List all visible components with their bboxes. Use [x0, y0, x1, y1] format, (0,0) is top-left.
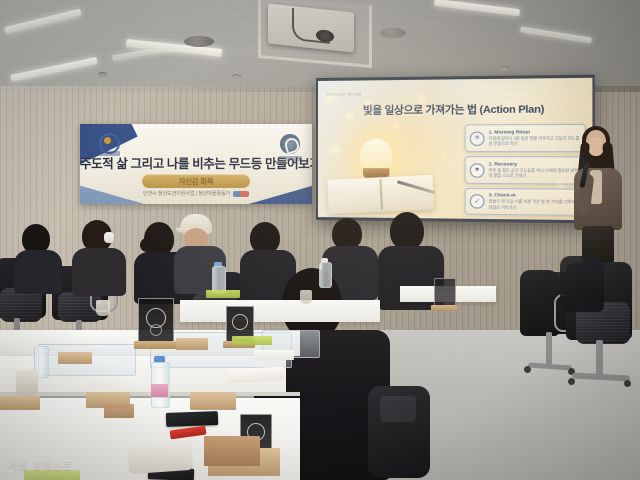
paper-cup	[16, 370, 38, 396]
presenter-speaker	[566, 126, 628, 262]
projection-screen: Seminar Ritual 빛을 일상으로 가져가는 법 (Action Pl…	[316, 75, 595, 224]
conference-table	[180, 300, 380, 322]
wooden-lamp-base	[176, 338, 208, 350]
wooden-lamp-base	[190, 392, 236, 410]
workshop-photo-scene: 주도적 삶 그리고 나를 비추는 무드등 만들어보기 자신감 회복 인천시 청년…	[0, 0, 640, 480]
table-edge	[0, 392, 300, 396]
presentation-slide: Seminar Ritual 빛을 일상으로 가져가는 법 (Action Pl…	[318, 78, 592, 220]
heart-icon: ♥	[470, 163, 485, 177]
korean-government-emblem	[280, 134, 300, 154]
tissue-pack	[127, 436, 193, 474]
face-mask	[104, 232, 114, 243]
kraft-material-box	[204, 436, 260, 466]
slide-title: 빛을 일상으로 가져가는 법 (Action Plan)	[318, 101, 592, 118]
sprinkler-head	[98, 72, 107, 77]
microphone-head	[579, 156, 588, 165]
draped-coat	[560, 256, 604, 312]
slide-kicker: Seminar Ritual	[326, 92, 362, 97]
sprinkler-head	[500, 66, 509, 71]
banner-subtitle-text: 자신감 회복	[179, 176, 214, 187]
banner-title: 주도적 삶 그리고 나를 비추는 무드등 만들어보기	[80, 153, 312, 172]
participant-body	[14, 250, 62, 294]
green-worksheet	[232, 336, 272, 345]
paper-cup	[300, 290, 312, 304]
banner-subtitle-pill: 자신감 회복	[142, 174, 250, 188]
sponsor-logo-mark	[233, 191, 249, 197]
anniversary-emblem	[96, 131, 122, 155]
backpack-pocket	[380, 396, 416, 422]
participant-head	[390, 212, 424, 250]
event-backdrop-banner: 주도적 삶 그리고 나를 비추는 무드등 만들어보기 자신감 회복 인천시 청년…	[80, 124, 312, 204]
banner-credit-text: 인천시 청년도전지원사업 | 청년마을활동가	[143, 191, 230, 197]
paper-cup	[96, 300, 110, 316]
wooden-lamp-base	[0, 396, 40, 410]
hair-bun	[140, 238, 154, 252]
banner-credit-line: 인천시 청년도전지원사업 | 청년마을활동가	[80, 190, 312, 197]
open-notebook-illustration	[327, 175, 434, 214]
kraft-material-box	[104, 404, 134, 418]
green-worksheet	[206, 290, 240, 298]
worksheet-paper	[254, 350, 294, 360]
sun-icon: ☀	[470, 131, 485, 145]
photo-watermark: 서울 경제신문	[8, 457, 73, 472]
ceiling-speaker	[184, 36, 214, 47]
worksheet-paper	[228, 367, 285, 384]
ceiling-speaker	[380, 28, 406, 38]
participant-body	[72, 248, 126, 296]
sprinkler-head	[232, 74, 241, 79]
check-icon: ✓	[470, 194, 485, 209]
wooden-lamp-base	[58, 352, 92, 364]
smartphone	[166, 411, 218, 427]
